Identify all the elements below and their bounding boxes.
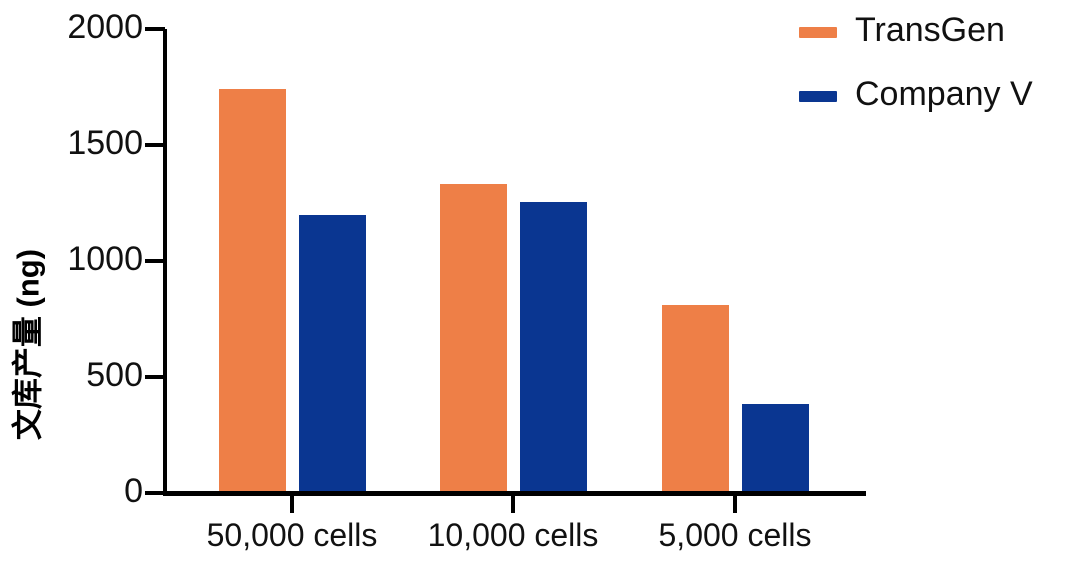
y-tick-2000: [145, 27, 165, 31]
y-tick-0: [145, 491, 165, 495]
y-tick-label-2000: 2000: [23, 10, 143, 44]
x-tick-2: [733, 496, 737, 513]
y-tick-label-500: 500: [23, 358, 143, 392]
legend-swatch-company-v: [799, 91, 837, 102]
x-tick-0: [290, 496, 294, 513]
bar-transgen-2: [662, 305, 729, 493]
legend-label-company-v: Company V: [855, 74, 1033, 114]
y-tick-1000: [145, 259, 165, 263]
y-tick-500: [145, 375, 165, 379]
y-tick-1500: [145, 143, 165, 147]
x-tick-1: [511, 496, 515, 513]
x-tick-label-2: 5,000 cells: [615, 516, 855, 554]
y-axis-title: 文库产量 (ng): [3, 175, 48, 515]
bar-chart: 文库产量 (ng) 0500100015002000 50,000 cells1…: [0, 0, 1080, 563]
y-tick-label-1000: 1000: [23, 242, 143, 276]
y-tick-label-0: 0: [23, 474, 143, 508]
bar-transgen-1: [440, 184, 507, 493]
x-tick-label-1: 10,000 cells: [393, 516, 633, 554]
bar-company-v-0: [299, 215, 366, 493]
bar-company-v-2: [742, 404, 809, 493]
bar-company-v-1: [520, 202, 587, 493]
legend-swatch-transgen: [799, 27, 837, 38]
x-tick-label-0: 50,000 cells: [172, 516, 412, 554]
bar-transgen-0: [219, 89, 286, 493]
y-tick-label-1500: 1500: [23, 126, 143, 160]
legend-label-transgen: TransGen: [855, 10, 1005, 50]
